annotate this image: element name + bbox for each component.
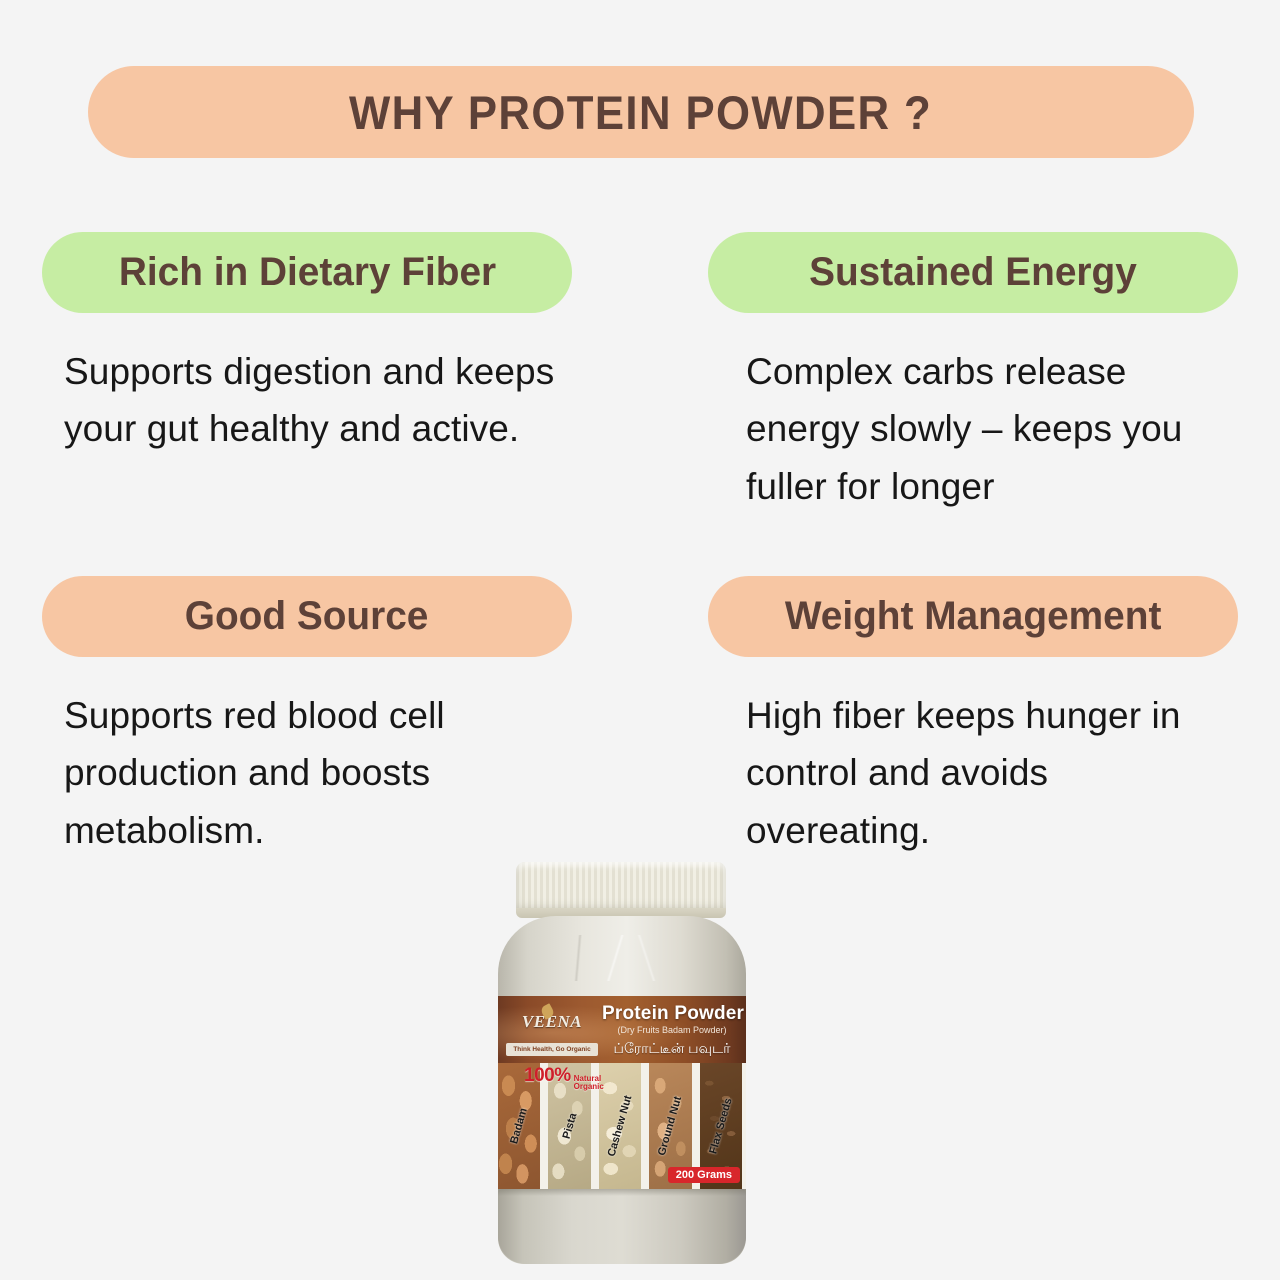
- brand-logo: VEENA: [512, 1004, 592, 1040]
- jar-base: [498, 1189, 746, 1264]
- ingredient-photo-strip: Badam Pista Cashew Nut Ground Nut Flax S…: [498, 1063, 746, 1189]
- product-jar-image: VEENA Think Health, Go Organic Protein P…: [494, 862, 750, 1266]
- organic-badge: 100% Natural Organic: [524, 1065, 604, 1092]
- benefit-body-text: High fiber keeps hunger in control and a…: [708, 687, 1238, 859]
- ingredient-label: Badam: [508, 1107, 530, 1146]
- ingredient-label: Ground Nut: [656, 1095, 684, 1157]
- product-name: Protein Powder: [602, 1003, 742, 1025]
- benefit-heading-label: Sustained Energy: [809, 250, 1137, 295]
- infographic-poster: WHY PROTEIN POWDER ? Rich in Dietary Fib…: [0, 0, 1280, 1280]
- benefit-heading-pill: Sustained Energy: [708, 232, 1238, 313]
- brand-tagline-strip: Think Health, Go Organic: [506, 1043, 598, 1056]
- ingredient-label: Flax Seeds: [707, 1097, 734, 1156]
- page-title: WHY PROTEIN POWDER ?: [349, 85, 932, 140]
- jar-shoulder: [498, 916, 746, 1004]
- ingredient-label: Pista: [560, 1112, 579, 1141]
- benefit-body-text: Supports red blood cell production and b…: [42, 687, 564, 859]
- product-subtitle: (Dry Fruits Badam Powder): [602, 1025, 742, 1035]
- organic-organic-label: Organic: [574, 1082, 604, 1091]
- benefit-heading-pill: Good Source: [42, 576, 572, 657]
- product-name-tamil: ப்ரோட்டீன் பவுடர்: [602, 1040, 742, 1059]
- brand-tagline: Think Health, Go Organic: [513, 1046, 590, 1052]
- product-label-band: VEENA Think Health, Go Organic Protein P…: [498, 996, 746, 1063]
- net-weight-badge: 200 Grams: [668, 1167, 740, 1183]
- organic-words: Natural Organic: [574, 1075, 604, 1092]
- organic-percent: 100%: [524, 1065, 571, 1087]
- ingredient-label: Cashew Nut: [606, 1094, 635, 1158]
- benefit-body-text: Complex carbs release energy slowly – ke…: [708, 343, 1238, 515]
- benefit-heading-pill: Weight Management: [708, 576, 1238, 657]
- benefit-body-text: Supports digestion and keeps your gut he…: [42, 343, 564, 458]
- benefit-heading-label: Good Source: [185, 594, 429, 639]
- benefit-heading-label: Weight Management: [785, 594, 1162, 639]
- benefit-heading-label: Rich in Dietary Fiber: [118, 250, 495, 295]
- benefit-card-rich-in-dietary-fiber: Rich in Dietary Fiber Supports digestion…: [42, 232, 572, 458]
- benefit-heading-pill: Rich in Dietary Fiber: [42, 232, 572, 313]
- benefit-card-weight-management: Weight Management High fiber keeps hunge…: [708, 576, 1238, 859]
- benefit-card-sustained-energy: Sustained Energy Complex carbs release e…: [708, 232, 1238, 515]
- page-title-pill: WHY PROTEIN POWDER ?: [88, 66, 1194, 158]
- jar-cap: [516, 862, 726, 914]
- benefit-card-good-source: Good Source Supports red blood cell prod…: [42, 576, 572, 859]
